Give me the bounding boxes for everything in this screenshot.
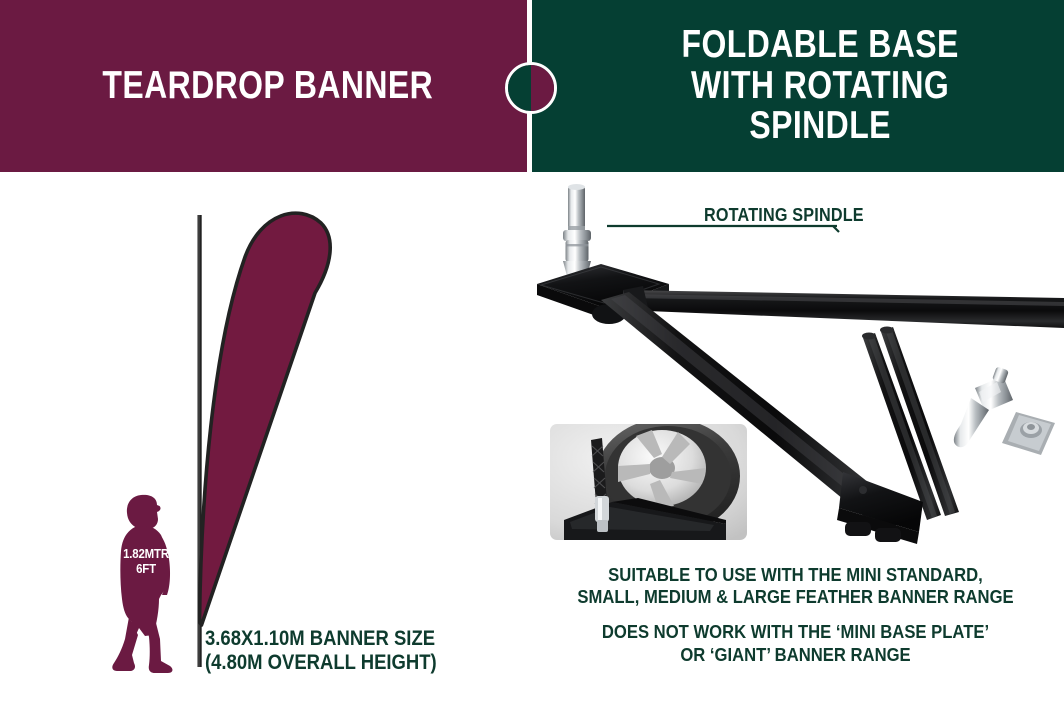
person-scale-silhouette [105,487,197,682]
banner-flag [200,213,331,625]
teardrop-banner-illustration [175,197,335,667]
foldable-base-panel: ROTATING SPINDLE [527,172,1064,710]
banner-size-caption: 3.68X1.10M BANNER SIZE (4.80M OVERALL HE… [205,627,437,676]
spindle-accessory [954,366,1013,447]
person-body [112,495,172,673]
rotating-spindle-callout-label: ROTATING SPINDLE [704,205,864,226]
note-suitable-usage: SUITABLE TO USE WITH THE MINI STANDARD, … [554,564,1037,608]
header-right-title: FOLDABLE BASE WITH ROTATING SPINDLE [580,25,1016,148]
infographic-page: TEARDROP BANNER FOLDABLE BASE WITH ROTAT… [0,0,1064,710]
note-incompatible-usage: DOES NOT WORK WITH THE ‘MINI BASE PLATE’… [554,621,1037,665]
teardrop-banner-panel: 1.82MTR 6FT 3.68X1.10M BANNER SIZE (4.80… [0,172,527,710]
header-band-teardrop: TEARDROP BANNER [0,0,527,172]
spindle-callout-leader-line [607,226,839,232]
folded-base-unit [837,327,959,545]
split-circle-emblem [505,62,557,114]
wheel-on-base-inset-photo [550,424,747,540]
wheel-inset-graphic [550,424,747,540]
compatibility-notes: SUITABLE TO USE WITH THE MINI STANDARD, … [527,564,1064,666]
rotating-spindle [563,184,591,282]
base-arm-right [623,286,1064,328]
header-band-foldable-base: FOLDABLE BASE WITH ROTATING SPINDLE [532,0,1064,172]
mount-plate-accessory [1002,412,1055,455]
header-left-title: TEARDROP BANNER [94,66,433,107]
circle-half-green [508,65,531,111]
circle-half-maroon [531,65,554,111]
